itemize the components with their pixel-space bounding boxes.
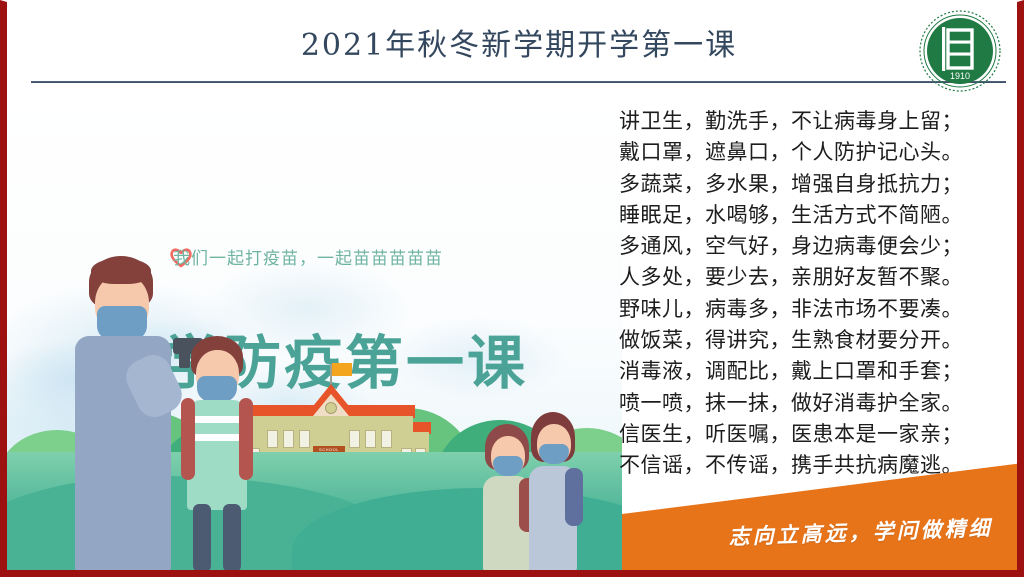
shirt-stripe (187, 416, 247, 423)
poem-line: 讲卫生，勤洗手，不让病毒身上留； (619, 106, 1024, 137)
title-divider (31, 81, 1006, 83)
poem-line: 睡眠足，水喝够，生活方式不简陋。 (619, 200, 1024, 231)
poem-line: 做饭菜，得讲究，生熟食材要分开。 (619, 325, 1024, 356)
face-mask-icon (493, 456, 523, 476)
student-legs (223, 504, 241, 572)
shirt-stripe (187, 434, 247, 441)
poem-line: 多蔬菜，多水果，增强自身抵抗力； (619, 169, 1024, 200)
face-mask-icon (97, 306, 147, 340)
poem-block: 讲卫生，勤洗手，不让病毒身上留； 戴口罩，遮鼻口，个人防护记心头。 多蔬菜，多水… (619, 106, 1024, 482)
university-seal-logo: 1910 (917, 8, 1003, 94)
backpack-icon (181, 398, 195, 480)
window (267, 430, 278, 448)
window (299, 430, 310, 448)
poem-line: 戴口罩，遮鼻口，个人防护记心头。 (619, 137, 1024, 168)
window (381, 430, 392, 448)
face-mask-icon (197, 376, 237, 402)
poem-line: 野味儿，病毒多，非法市场不要凑。 (619, 294, 1024, 325)
orange-flag-icon (332, 363, 352, 376)
logo-year: 1910 (950, 71, 970, 81)
poster-illustration: 我们一起打疫苗，一起苗苗苗苗苗 开学防疫第一课 (7, 94, 622, 572)
poem-line: 信医生，听医嘱，医患本是一家亲； (619, 419, 1024, 450)
window (365, 430, 376, 448)
masked-teacher (69, 256, 189, 572)
poem-line: 人多处，要少去，亲朋好友暂不聚。 (619, 262, 1024, 293)
vaccine-slogan: 我们一起打疫苗，一起苗苗苗苗苗 (173, 244, 443, 269)
window (283, 430, 294, 448)
poem-line: 消毒液，调配比，戴上口罩和手套； (619, 356, 1024, 387)
clock-icon (325, 402, 337, 414)
masked-student-right-b (525, 412, 587, 572)
poem-line: 喷一喷，抹一抹，做好消毒护全家。 (619, 388, 1024, 419)
hair-fringe (91, 258, 151, 284)
student-legs (193, 504, 211, 572)
poem-line: 多通风，空气好，身边病毒便会少； (619, 231, 1024, 262)
backpack-icon (565, 468, 583, 526)
page-title: 2021年秋冬新学期开学第一课 (7, 20, 1024, 64)
slide-root: 2021年秋冬新学期开学第一课 1910 我们一起打疫苗，一起苗苗苗苗苗 开学防… (0, 0, 1024, 577)
backpack-icon (239, 398, 253, 480)
window (349, 430, 360, 448)
masked-student-front (179, 336, 263, 572)
